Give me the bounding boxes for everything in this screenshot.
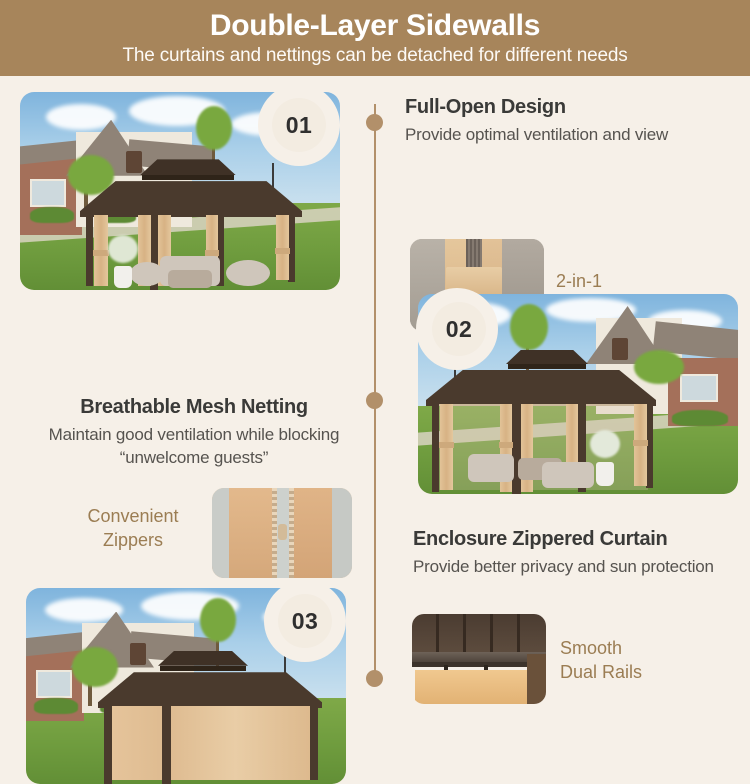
- potted-plant: [590, 430, 620, 458]
- detail-label-line-2: Dual Rails: [560, 660, 740, 684]
- page-subtitle: The curtains and nettings can be detache…: [122, 43, 627, 69]
- gazebo-ceiling: [412, 614, 546, 654]
- cloud-icon: [46, 104, 116, 130]
- timeline-dot-2: [366, 392, 383, 409]
- page-header: Double-Layer Sidewalls The curtains and …: [0, 0, 750, 76]
- window-shutter: [612, 338, 628, 360]
- ceiling-rib: [463, 614, 466, 654]
- gazebo-post: [512, 404, 521, 494]
- loop-strap: [499, 442, 513, 448]
- mesh-panel-right: [330, 488, 352, 578]
- patio-table: [168, 270, 212, 288]
- tree-foliage: [510, 304, 548, 350]
- potted-plant: [108, 235, 138, 263]
- planter-pot: [596, 462, 614, 486]
- ceiling-rib: [490, 614, 493, 654]
- patio-chair: [226, 260, 270, 286]
- zipper-pull-icon: [278, 524, 287, 540]
- feature-description-1: Provide optimal ventilation and view: [405, 123, 735, 146]
- gazebo-main-roof: [426, 370, 656, 400]
- curtain-panel-left: [229, 488, 275, 578]
- feature-text-full-open: Full-Open Design Provide optimal ventila…: [405, 94, 735, 146]
- hanging-curtain: [415, 670, 528, 704]
- feature-text-mesh-netting: Breathable Mesh Netting Maintain good ve…: [24, 394, 364, 469]
- detail-label-convenient-zippers: Convenient Zippers: [58, 504, 208, 552]
- detail-label-line-2: Zippers: [58, 528, 208, 552]
- lower-rail: [412, 662, 546, 667]
- ceiling-rib: [436, 614, 439, 654]
- loop-strap: [439, 442, 454, 448]
- zipper-closeup-photo: [212, 488, 352, 578]
- timeline-dot-1: [366, 114, 383, 131]
- gazebo-curtain: [276, 215, 289, 280]
- dual-rail-closeup-photo: [412, 614, 546, 704]
- shrub: [30, 207, 74, 223]
- gazebo-vent-band: [142, 175, 234, 180]
- feature-badge-03: 03: [278, 594, 332, 648]
- timeline-dot-3: [366, 670, 383, 687]
- gazebo-vent-band: [508, 364, 586, 369]
- feature-title-1: Full-Open Design: [405, 94, 735, 120]
- patio-sofa: [542, 462, 594, 488]
- zipper-teeth-left: [272, 488, 277, 578]
- shrub: [672, 410, 728, 426]
- detail-label-line-1: Smooth: [560, 636, 740, 660]
- feature-title-2: Breathable Mesh Netting: [24, 394, 364, 420]
- window: [36, 670, 72, 698]
- side-wall: [527, 654, 546, 704]
- ceiling-rib: [517, 614, 520, 654]
- patio-sofa: [468, 454, 514, 482]
- tree-foliage: [72, 647, 118, 687]
- gazebo-post: [162, 706, 171, 784]
- upper-rail: [412, 652, 546, 662]
- window: [680, 374, 718, 402]
- tree-foliage: [196, 106, 232, 150]
- detail-label-smooth-dual-rails: Smooth Dual Rails: [560, 636, 740, 684]
- tree-foliage: [634, 350, 684, 384]
- infographic-body: 01 Full-Open Design Provide optimal vent…: [0, 76, 750, 750]
- feature-description-3: Provide better privacy and sun protectio…: [413, 555, 743, 578]
- loop-strap: [93, 250, 109, 256]
- feature-title-3: Enclosure Zippered Curtain: [413, 526, 743, 552]
- curtain-panel-right: [290, 488, 332, 578]
- feature-badge-01: 01: [272, 98, 326, 152]
- zipper-teeth-right: [289, 488, 294, 578]
- closed-curtain-wall: [104, 706, 316, 780]
- loop-strap: [275, 248, 290, 254]
- page-title: Double-Layer Sidewalls: [210, 9, 540, 43]
- gazebo-post: [646, 404, 653, 488]
- detail-label-line-1: Convenient: [58, 504, 208, 528]
- planter-pot: [114, 266, 132, 288]
- gazebo-post: [104, 706, 112, 784]
- shrub: [34, 698, 78, 714]
- gazebo-post: [86, 215, 93, 286]
- patio-chair: [130, 262, 164, 286]
- feature-badge-02: 02: [432, 302, 486, 356]
- gazebo-post: [432, 404, 439, 492]
- detail-label-line-1: 2-in-1: [556, 269, 736, 293]
- feature-text-enclosure-curtain: Enclosure Zippered Curtain Provide bette…: [413, 526, 743, 578]
- window: [30, 179, 66, 207]
- loop-strap: [633, 440, 648, 446]
- gazebo-main-roof: [98, 672, 322, 702]
- feature-description-2: Maintain good ventilation while blocking…: [24, 423, 364, 469]
- window-shutter: [130, 643, 146, 665]
- tree-foliage: [200, 598, 236, 642]
- gazebo-main-roof: [80, 181, 302, 211]
- window-shutter: [126, 151, 142, 173]
- gazebo-post: [310, 706, 318, 780]
- gazebo-vent-band: [160, 666, 246, 671]
- gazebo-beam: [80, 211, 302, 217]
